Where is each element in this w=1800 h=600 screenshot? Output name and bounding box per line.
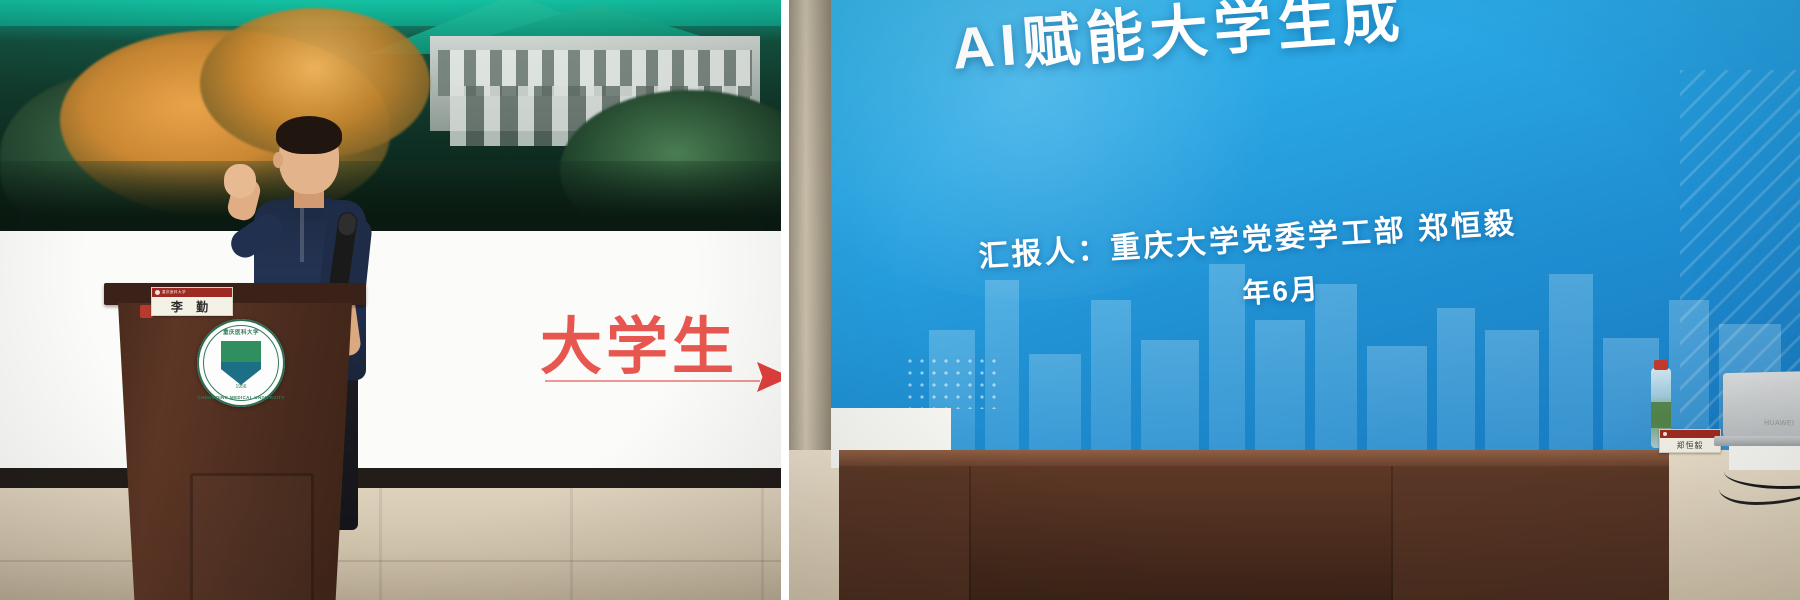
university-emblem-icon: 重庆医科大学 1956 CHONGQING MEDICAL UNIVERSITY bbox=[197, 319, 285, 407]
left-speaker-hand-right bbox=[224, 164, 256, 198]
right-nameplate-header-bar: 重庆大学 bbox=[1660, 430, 1720, 438]
slide-date-line: 年6月 bbox=[1241, 267, 1321, 312]
two-panel-photo-composite: 大学生 bbox=[0, 0, 1800, 600]
laptop-cable-secondary bbox=[1719, 452, 1800, 505]
panel-divider bbox=[781, 0, 789, 600]
nameplate-person-name: 李 勤 bbox=[152, 297, 232, 315]
right-wall-column bbox=[789, 0, 831, 470]
left-photo-panel: 大学生 bbox=[0, 0, 781, 600]
right-photo-panel: AI赋能大学生成 汇报人：重庆大学党委学工部 郑恒毅 年6月 bbox=[789, 0, 1800, 600]
laptop-base bbox=[1714, 436, 1800, 446]
nameplate-organization: 重庆医科大学 bbox=[162, 290, 186, 295]
slide-red-underline bbox=[545, 380, 760, 382]
table-front-panel bbox=[969, 466, 1393, 600]
laptop-computer: HUAWEI bbox=[1714, 372, 1800, 450]
podium-top-surface bbox=[104, 283, 366, 305]
emblem-english-text: CHONGQING MEDICAL UNIVERSITY bbox=[197, 395, 285, 400]
right-nameplate-logo-icon bbox=[1663, 432, 1667, 436]
left-speaker-placket bbox=[300, 206, 304, 262]
bottle-label bbox=[1651, 402, 1671, 428]
slide-red-title: 大学生 bbox=[540, 296, 738, 386]
right-nameplate-person-name: 郑恒毅 bbox=[1660, 438, 1720, 452]
table-top-edge bbox=[839, 450, 1669, 466]
left-desk-nameplate: 重庆医科大学 李 勤 bbox=[151, 287, 233, 316]
nameplate-logo-icon bbox=[155, 290, 160, 295]
laptop-brand-label: HUAWEI bbox=[1764, 420, 1794, 427]
photo-sky bbox=[0, 0, 781, 26]
emblem-chinese-text: 重庆医科大学 bbox=[197, 328, 285, 336]
emblem-year: 1956 bbox=[197, 384, 285, 390]
podium-inset-panel bbox=[190, 473, 314, 600]
slide-dot-grid-decoration bbox=[904, 355, 1000, 409]
bottle-cap-icon bbox=[1654, 360, 1668, 370]
laptop-lid: HUAWEI bbox=[1723, 371, 1800, 439]
lectern-podium: 重庆医科大学 1956 CHONGQING MEDICAL UNIVERSITY bbox=[104, 283, 366, 600]
left-speaker-hair bbox=[276, 116, 342, 154]
nameplate-header-bar: 重庆医科大学 bbox=[152, 288, 232, 297]
right-desk-nameplate: 重庆大学 郑恒毅 bbox=[1659, 429, 1721, 453]
left-speaker-ear bbox=[273, 152, 283, 168]
